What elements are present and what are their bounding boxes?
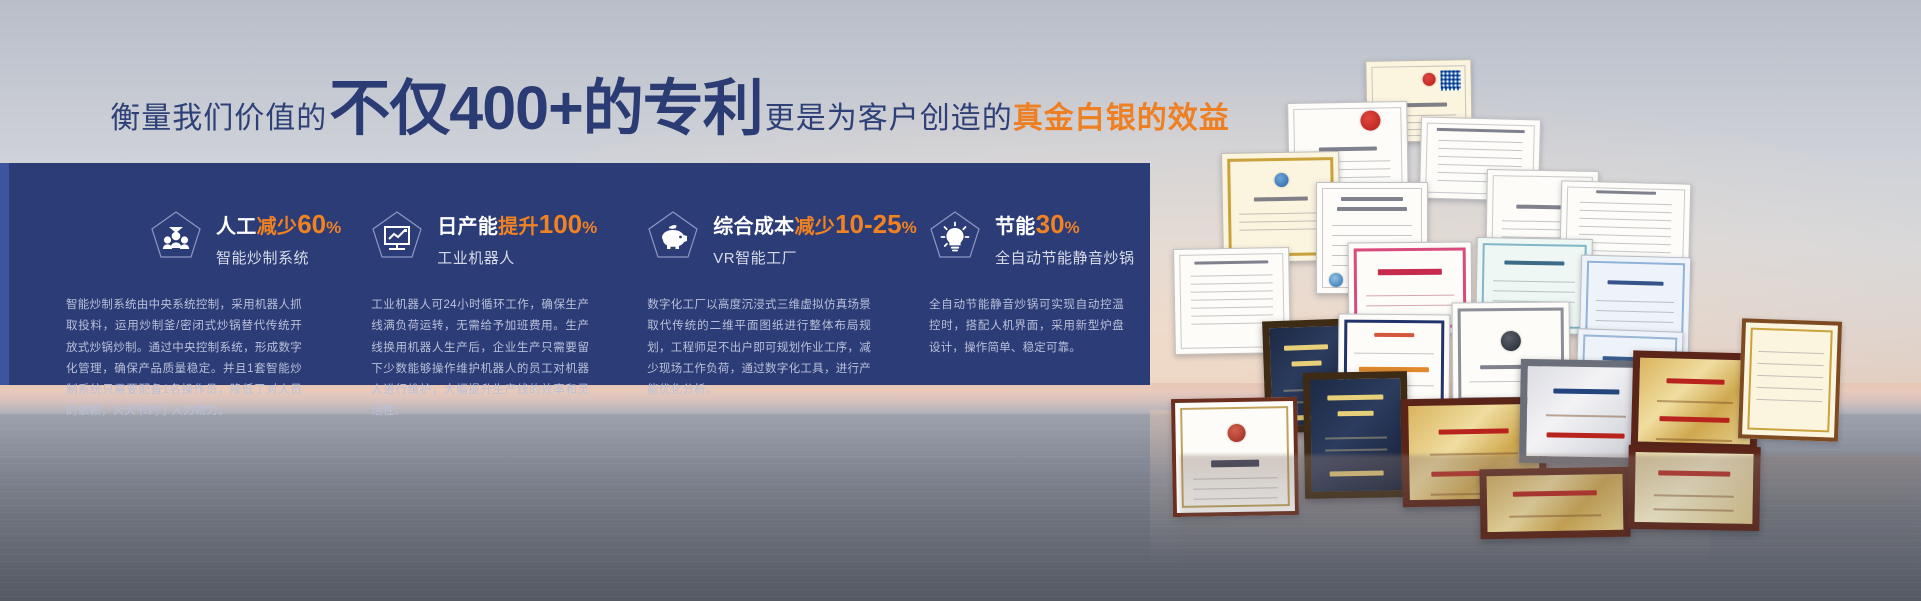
feature-title-number: 60 (297, 209, 326, 239)
lightbulb-icon (929, 210, 981, 260)
piggy-bank-icon (647, 210, 699, 260)
feature-title-highlight: 减少 (794, 216, 835, 238)
feature-body: 数字化工厂以高度沉浸式三维虚拟仿真场景取代传统的二维平面图纸进行整体布局规划，工… (647, 295, 871, 401)
certificate-item (1738, 318, 1842, 441)
feature-title-unit: % (582, 218, 597, 237)
certificate-reflection (1180, 455, 1921, 575)
feature-item[interactable]: 综合成本减少10-25% VR智能工厂 数字化工厂以高度沉浸式三维虚拟仿真场景取… (615, 163, 897, 385)
promo-banner: 衡量我们价值的 不仅400+的专利 更是为客户创造的 真金白银的效益 (0, 0, 1921, 601)
feature-subtitle: 智能炒制系统 (216, 247, 342, 268)
chart-board-icon (371, 210, 423, 260)
feature-title: 日产能提升100% (437, 210, 597, 240)
feature-title-number: 100 (539, 209, 582, 239)
feature-title-prefix: 日产能 (437, 216, 498, 238)
headline-middle: 更是为客户创造的 (765, 104, 1013, 134)
feature-title-number: 10-25 (835, 209, 902, 239)
headline-prefix: 衡量我们价值的 (110, 104, 327, 134)
page-title: 衡量我们价值的 不仅400+的专利 更是为客户创造的 真金白银的效益 (0, 72, 1340, 136)
feature-title: 节能30% (995, 210, 1135, 240)
feature-title-prefix: 综合成本 (713, 216, 794, 238)
headline-highlight: 真金白银的效益 (1013, 104, 1230, 134)
feature-subtitle: 全自动节能静音炒锅 (995, 247, 1135, 268)
feature-subtitle: 工业机器人 (437, 247, 597, 268)
feature-title: 综合成本减少10-25% (713, 210, 917, 240)
feature-title-prefix: 人工 (216, 216, 257, 238)
feature-title-highlight: 提升 (498, 216, 539, 238)
feature-title-number: 30 (1036, 209, 1065, 239)
headline-emphasis: 不仅400+的专利 (329, 80, 762, 138)
feature-item[interactable]: 日产能提升100% 工业机器人 工业机器人可24小时循环工作，确保生产线满负荷运… (339, 163, 615, 385)
feature-body: 全自动节能静音炒锅可实现自动控温控时，搭配人机界面，采用新型炉盘设计，操作简单、… (929, 295, 1124, 359)
feature-body: 智能炒制系统由中央系统控制，采用机器人抓取投料，运用炒制釜/密闭式炒锅替代传统开… (66, 295, 302, 423)
features-list: 人工减少60% 智能炒制系统 智能炒制系统由中央系统控制，采用机器人抓取投料，运… (0, 163, 1150, 385)
feature-body: 工业机器人可24小时循环工作，确保生产线满负荷运转，无需给予加班费用。生产线换用… (371, 295, 589, 423)
feature-subtitle: VR智能工厂 (713, 247, 917, 268)
feature-title-prefix: 节能 (995, 216, 1036, 238)
people-group-icon (150, 210, 202, 260)
feature-title-highlight: 减少 (257, 216, 298, 238)
feature-title: 人工减少60% (216, 210, 342, 240)
feature-title-unit: % (1065, 218, 1080, 237)
feature-item[interactable]: 节能30% 全自动节能静音炒锅 全自动节能静音炒锅可实现自动控温控时，搭配人机界… (897, 163, 1150, 385)
feature-item[interactable]: 人工减少60% 智能炒制系统 智能炒制系统由中央系统控制，采用机器人抓取投料，运… (0, 163, 339, 385)
